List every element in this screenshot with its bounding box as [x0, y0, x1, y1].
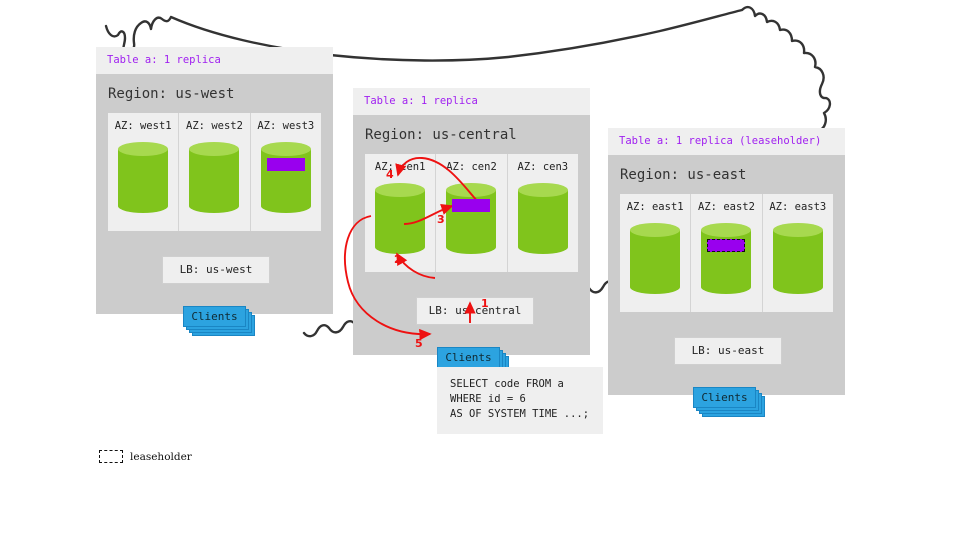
node-cylinder-west1[interactable] [118, 142, 168, 220]
step-number-2: 2 [394, 253, 402, 266]
clients-us-east[interactable]: Clients [693, 387, 763, 415]
az-label-west2: AZ: west2 [179, 120, 249, 132]
az-label-west3: AZ: west3 [251, 120, 321, 132]
node-cylinder-cen3[interactable] [518, 183, 568, 261]
replica-marker-cen2[interactable] [452, 199, 490, 212]
region-title-us-central: Region: us-central [353, 115, 590, 154]
az-west2[interactable]: AZ: west2 [178, 113, 249, 231]
load-balancer-us-west[interactable]: LB: us-west [162, 256, 270, 284]
lb-label-us-central: LB: us-central [429, 304, 522, 317]
az-west1[interactable]: AZ: west1 [108, 113, 178, 231]
az-west3[interactable]: AZ: west3 [250, 113, 321, 231]
az-east3[interactable]: AZ: east3 [762, 194, 833, 312]
node-cylinder-east1[interactable] [630, 223, 680, 301]
replica-banner-us-east: Table a: 1 replica (leaseholder) [608, 128, 845, 155]
node-cylinder-cen1[interactable] [375, 183, 425, 261]
az-label-east3: AZ: east3 [763, 201, 833, 213]
replica-banner-us-central: Table a: 1 replica [353, 88, 590, 115]
legend: leaseholder [99, 450, 192, 463]
lb-label-us-west: LB: us-west [180, 263, 253, 276]
step-number-4: 4 [386, 168, 394, 181]
region-title-us-east: Region: us-east [608, 155, 845, 194]
region-card-us-central: Table a: 1 replica Region: us-central AZ… [353, 88, 590, 355]
clients-label-us-east: Clients [701, 391, 747, 404]
clients-label-us-central: Clients [445, 351, 491, 364]
node-cylinder-cen2[interactable] [446, 183, 496, 261]
az-cen3[interactable]: AZ: cen3 [507, 154, 578, 272]
clients-label-us-west: Clients [191, 310, 237, 323]
node-cylinder-east3[interactable] [773, 223, 823, 301]
region-title-us-west: Region: us-west [96, 74, 333, 113]
dashed-rect-icon [99, 450, 123, 463]
region-card-us-east: Table a: 1 replica (leaseholder) Region:… [608, 128, 845, 395]
az-strip-us-east: AZ: east1 AZ: east2 [620, 194, 833, 312]
clients-us-west[interactable]: Clients [183, 306, 253, 334]
az-label-cen2: AZ: cen2 [436, 161, 506, 173]
replica-banner-us-west: Table a: 1 replica [96, 47, 333, 74]
az-label-east1: AZ: east1 [620, 201, 690, 213]
leaseholder-marker-east2[interactable] [707, 239, 745, 252]
region-body-us-east: Region: us-east AZ: east1 AZ: east2 [608, 155, 845, 395]
node-cylinder-west2[interactable] [189, 142, 239, 220]
region-card-us-west: Table a: 1 replica Region: us-west AZ: w… [96, 47, 333, 314]
step-number-3: 3 [437, 213, 445, 226]
az-east2[interactable]: AZ: east2 [690, 194, 761, 312]
az-strip-us-west: AZ: west1 AZ: west2 AZ [108, 113, 321, 231]
replica-marker-west3[interactable] [267, 158, 305, 171]
az-cen2[interactable]: AZ: cen2 [435, 154, 506, 272]
step-number-5: 5 [415, 337, 423, 350]
diagram-canvas: Table a: 1 replica Region: us-west AZ: w… [0, 0, 960, 540]
az-label-cen1: AZ: cen1 [365, 161, 435, 173]
az-east1[interactable]: AZ: east1 [620, 194, 690, 312]
region-body-us-central: Region: us-central AZ: cen1 AZ: cen2 [353, 115, 590, 355]
node-cylinder-east2[interactable] [701, 223, 751, 301]
node-cylinder-west3[interactable] [261, 142, 311, 220]
az-label-cen3: AZ: cen3 [508, 161, 578, 173]
az-label-east2: AZ: east2 [691, 201, 761, 213]
legend-label: leaseholder [130, 451, 192, 463]
lb-label-us-east: LB: us-east [692, 344, 765, 357]
load-balancer-us-central[interactable]: LB: us-central [416, 297, 534, 325]
region-body-us-west: Region: us-west AZ: west1 AZ: west2 [96, 74, 333, 314]
load-balancer-us-east[interactable]: LB: us-east [674, 337, 782, 365]
sql-query-note: SELECT code FROM a WHERE id = 6 AS OF SY… [437, 367, 603, 434]
step-number-1: 1 [481, 297, 489, 310]
az-label-west1: AZ: west1 [108, 120, 178, 132]
